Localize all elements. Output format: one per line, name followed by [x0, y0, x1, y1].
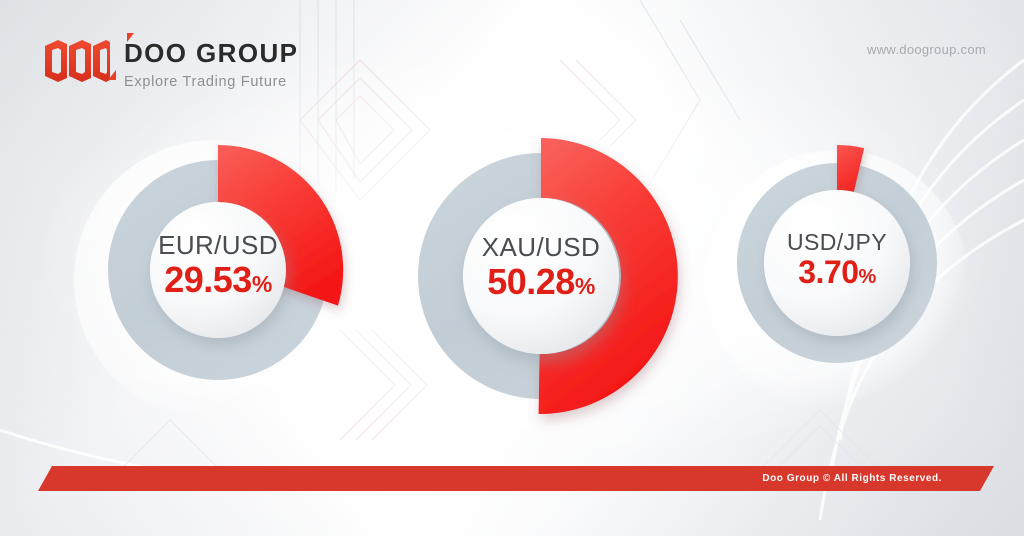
page-header: DOO GROUP Explore Trading Future www.doo… — [0, 0, 1024, 118]
gauge-row: EUR/USD 29.53% — [0, 120, 1024, 430]
triangle-accent-top-icon — [127, 33, 134, 42]
footer-copyright: Doo Group © All Rights Reserved. — [762, 473, 994, 484]
gauge-usd-jpy-svg — [712, 130, 962, 400]
triangle-accent-bottom-icon — [108, 70, 116, 80]
brand-tagline: Explore Trading Future — [124, 75, 298, 90]
brand-text-block: DOO GROUP Explore Trading Future — [124, 38, 298, 90]
gauge-eur-usd-svg — [88, 120, 348, 410]
infographic-canvas: DOO GROUP Explore Trading Future www.doo… — [0, 0, 1024, 536]
gauge-eur-usd: EUR/USD 29.53% — [88, 120, 348, 400]
gauge-hub-xau-usd — [463, 198, 619, 354]
footer-bar: Doo Group © All Rights Reserved. — [38, 466, 994, 491]
gauge-hub-usd-jpy — [764, 190, 910, 336]
brand-name: DOO GROUP — [124, 40, 298, 66]
site-url: www.doogroup.com — [867, 42, 986, 57]
brand-lockup: DOO GROUP Explore Trading Future — [44, 38, 298, 90]
gauge-xau-usd-svg — [396, 116, 686, 436]
doo-logo-icon — [44, 38, 110, 84]
gauge-xau-usd: XAU/USD 50.28% — [396, 116, 686, 426]
gauge-usd-jpy: USD/JPY 3.70% — [712, 130, 962, 390]
gauge-hub-eur-usd — [150, 202, 286, 338]
